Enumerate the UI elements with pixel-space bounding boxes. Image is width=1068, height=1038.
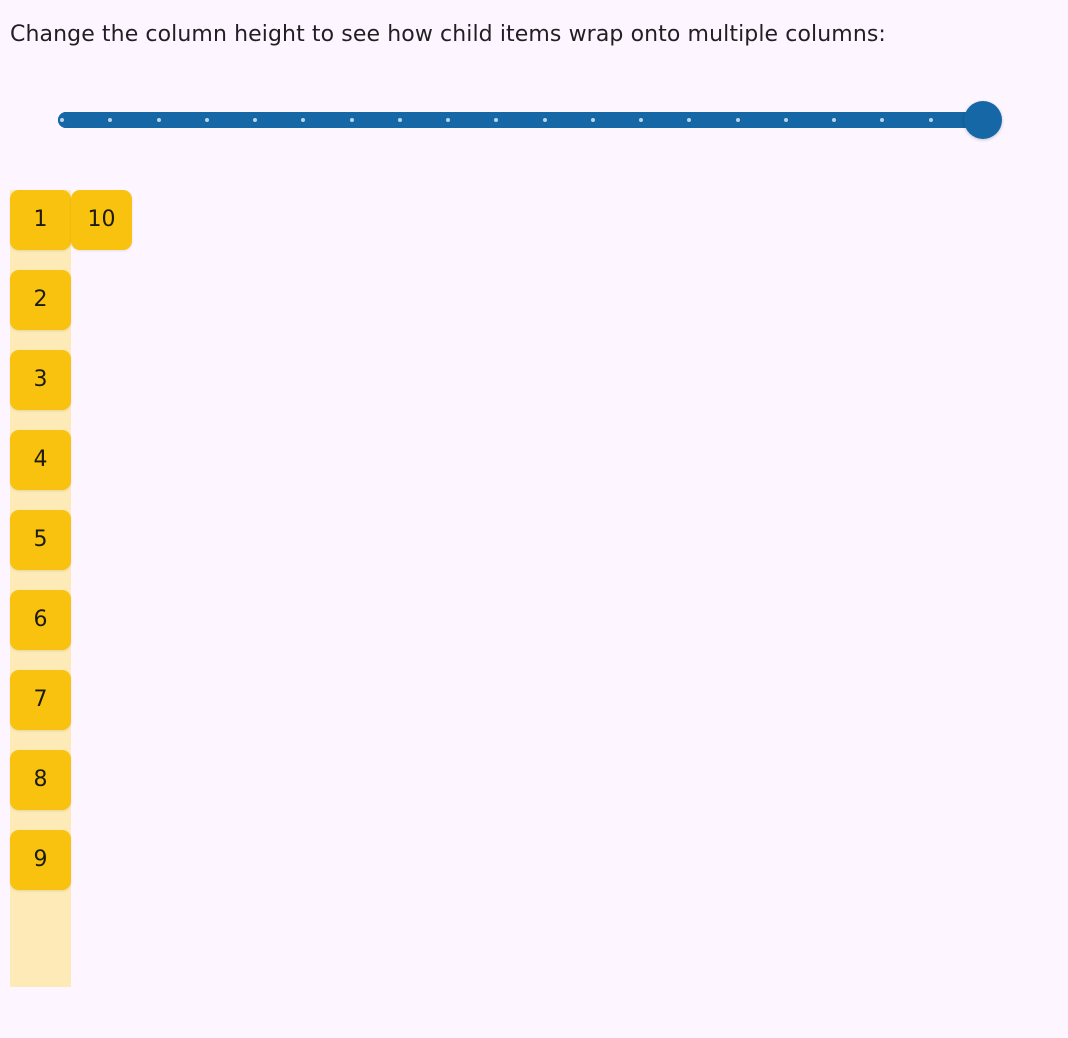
column-item: 1 xyxy=(10,190,71,250)
slider-tick xyxy=(398,118,402,122)
slider-tick xyxy=(591,118,595,122)
column-item-label: 2 xyxy=(34,289,48,311)
column-item-label: 9 xyxy=(34,849,48,871)
column-item: 10 xyxy=(71,190,132,250)
column-item: 7 xyxy=(10,670,71,730)
column-item: 9 xyxy=(10,830,71,890)
column-item-label: 4 xyxy=(34,449,48,471)
slider-tick xyxy=(253,118,257,122)
slider-tick xyxy=(205,118,209,122)
slider-tick xyxy=(687,118,691,122)
slider-tick xyxy=(446,118,450,122)
column-item-label: 1 xyxy=(34,209,48,231)
slider-tick xyxy=(736,118,740,122)
column-item: 6 xyxy=(10,590,71,650)
slider-tick xyxy=(880,118,884,122)
column-item: 2 xyxy=(10,270,71,330)
column-item-label: 6 xyxy=(34,609,48,631)
slider-tick xyxy=(832,118,836,122)
column-item-label: 7 xyxy=(34,689,48,711)
slider-tick xyxy=(157,118,161,122)
flex-column-container: 12345678910 xyxy=(10,190,71,987)
slider-tick xyxy=(639,118,643,122)
slider-tick xyxy=(350,118,354,122)
slider-tick xyxy=(301,118,305,122)
slider-tick xyxy=(784,118,788,122)
column-item-label: 5 xyxy=(34,529,48,551)
column-item: 4 xyxy=(10,430,71,490)
slider-tick xyxy=(494,118,498,122)
page-heading: Change the column height to see how chil… xyxy=(10,20,886,50)
slider-tick xyxy=(60,118,64,122)
column-height-slider[interactable] xyxy=(58,105,983,135)
slider-tick xyxy=(929,118,933,122)
slider-tick xyxy=(108,118,112,122)
column-item: 5 xyxy=(10,510,71,570)
column-item: 3 xyxy=(10,350,71,410)
slider-tick xyxy=(543,118,547,122)
slider-tick-marks xyxy=(58,112,983,128)
column-item: 8 xyxy=(10,750,71,810)
slider-thumb[interactable] xyxy=(964,101,1002,139)
column-item-label: 10 xyxy=(88,209,116,231)
column-item-label: 8 xyxy=(34,769,48,791)
column-item-label: 3 xyxy=(34,369,48,391)
